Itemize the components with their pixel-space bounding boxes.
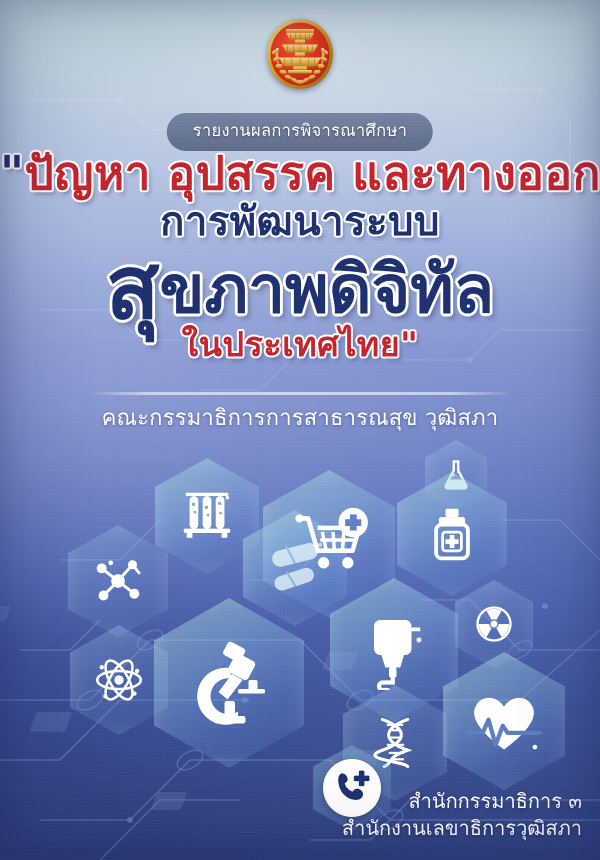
hex-microscope — [154, 598, 304, 768]
icon-hex-field — [0, 430, 600, 830]
shopping-cart-medical-icon — [286, 501, 372, 587]
title-line-3-rest: ขภาพดิจิทัล — [160, 251, 495, 328]
hex-heart-pulse — [443, 652, 565, 790]
opening-quote: " — [0, 146, 24, 200]
title-line-2: การพัฒนาระบบ — [0, 202, 600, 242]
book-cover: รายงานผลการพิจารณาศึกษา "ปัญหา อุปสรรค แ… — [0, 0, 600, 860]
thai-senate-emblem — [264, 14, 336, 92]
title-line-3-lead: สุ — [106, 236, 160, 339]
title-line-4: ในประเทศไทย" — [0, 328, 600, 362]
footer-line-1: สำนักกรรมาธิการ ๓ — [342, 788, 582, 815]
hex-atom — [70, 625, 168, 735]
heart-pulse-icon — [466, 683, 542, 759]
hex-molecule — [68, 525, 168, 637]
footer-line-2: สำนักงานเลขาธิการวุฒิสภา — [342, 815, 582, 842]
title-block: "ปัญหา อุปสรรค และทางออก การพัฒนาระบบ สุ… — [0, 150, 600, 362]
iv-drip-icon — [354, 610, 434, 690]
medicine-bottle-icon — [422, 504, 482, 564]
hex-radiation — [455, 580, 533, 668]
emblem-container — [264, 14, 336, 92]
title-divider — [88, 392, 512, 395]
title-line-3: สุขภาพดิจิทัล — [0, 244, 600, 332]
atom-icon — [90, 651, 148, 709]
molecule-icon — [89, 552, 147, 610]
hex-medicine-bottle — [397, 472, 507, 596]
radiation-icon — [472, 602, 516, 646]
test-tubes-icon — [176, 485, 238, 547]
title-line-1: "ปัญหา อุปสรรค และทางออก — [0, 150, 600, 196]
publisher-footer: สำนักกรรมาธิการ ๓ สำนักงานเลขาธิการวุฒิส… — [342, 788, 582, 842]
microscope-icon — [181, 635, 277, 731]
title-line-1-text: ปัญหา อุปสรรค และทางออก — [24, 146, 600, 200]
